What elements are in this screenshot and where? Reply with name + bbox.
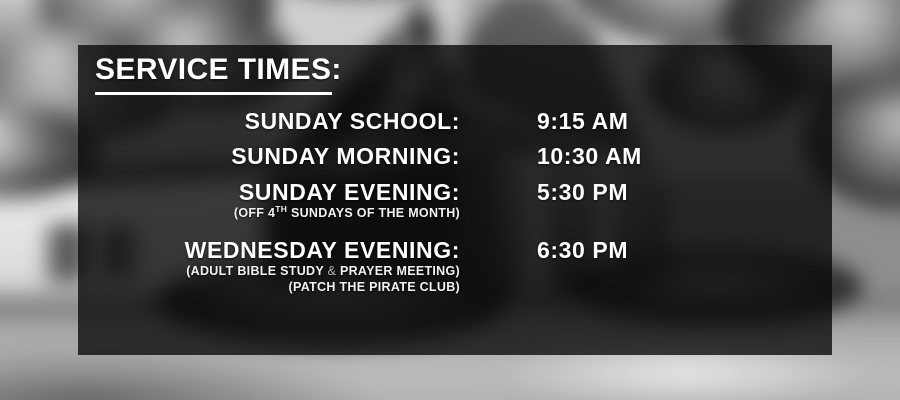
service-row-sunday-evening: SUNDAY EVENING: (OFF 4TH SUNDAYS OF THE … bbox=[78, 180, 832, 222]
note-text-after: PRAYER MEETING) bbox=[336, 264, 460, 278]
service-name: SUNDAY SCHOOL: bbox=[78, 109, 460, 134]
note-text-before: (ADULT BIBLE STUDY bbox=[186, 264, 327, 278]
service-times-banner: SERVICE TIMES: SUNDAY SCHOOL: 9:15 AM SU… bbox=[0, 0, 900, 400]
service-time-cell: 9:15 AM bbox=[460, 109, 720, 134]
service-name: SUNDAY MORNING: bbox=[78, 144, 460, 169]
service-label-cell: WEDNESDAY EVENING: (ADULT BIBLE STUDY & … bbox=[78, 238, 460, 297]
service-label-cell: SUNDAY EVENING: (OFF 4TH SUNDAYS OF THE … bbox=[78, 180, 460, 222]
note-ordinal-suffix: TH bbox=[275, 204, 287, 214]
service-row-sunday-school: SUNDAY SCHOOL: 9:15 AM bbox=[78, 109, 832, 134]
note-text-before: (OFF 4 bbox=[234, 206, 275, 220]
note-text-after: SUNDAYS OF THE MONTH) bbox=[287, 206, 460, 220]
service-list: SUNDAY SCHOOL: 9:15 AM SUNDAY MORNING: 1… bbox=[78, 109, 832, 306]
service-note: (ADULT BIBLE STUDY & PRAYER MEETING) bbox=[78, 264, 460, 280]
service-time: 6:30 PM bbox=[537, 238, 720, 263]
service-note-secondary: (PATCH THE PIRATE CLUB) bbox=[78, 280, 460, 296]
service-time: 10:30 AM bbox=[537, 144, 720, 169]
service-name: SUNDAY EVENING: bbox=[78, 180, 460, 205]
service-time: 5:30 PM bbox=[537, 180, 720, 205]
service-label-cell: SUNDAY SCHOOL: bbox=[78, 109, 460, 134]
service-row-wednesday-evening: WEDNESDAY EVENING: (ADULT BIBLE STUDY & … bbox=[78, 238, 832, 297]
ampersand: & bbox=[328, 264, 337, 278]
page-title: SERVICE TIMES: bbox=[95, 55, 342, 85]
service-time-cell: 6:30 PM bbox=[460, 238, 720, 263]
service-time-cell: 5:30 PM bbox=[460, 180, 720, 205]
service-name: WEDNESDAY EVENING: bbox=[78, 238, 460, 263]
service-label-cell: SUNDAY MORNING: bbox=[78, 144, 460, 169]
service-note: (OFF 4TH SUNDAYS OF THE MONTH) bbox=[78, 206, 460, 222]
title-underline bbox=[95, 92, 332, 95]
service-row-sunday-morning: SUNDAY MORNING: 10:30 AM bbox=[78, 144, 832, 169]
service-time: 9:15 AM bbox=[537, 109, 720, 134]
dark-overlay-panel: SERVICE TIMES: SUNDAY SCHOOL: 9:15 AM SU… bbox=[78, 45, 832, 355]
service-time-cell: 10:30 AM bbox=[460, 144, 720, 169]
